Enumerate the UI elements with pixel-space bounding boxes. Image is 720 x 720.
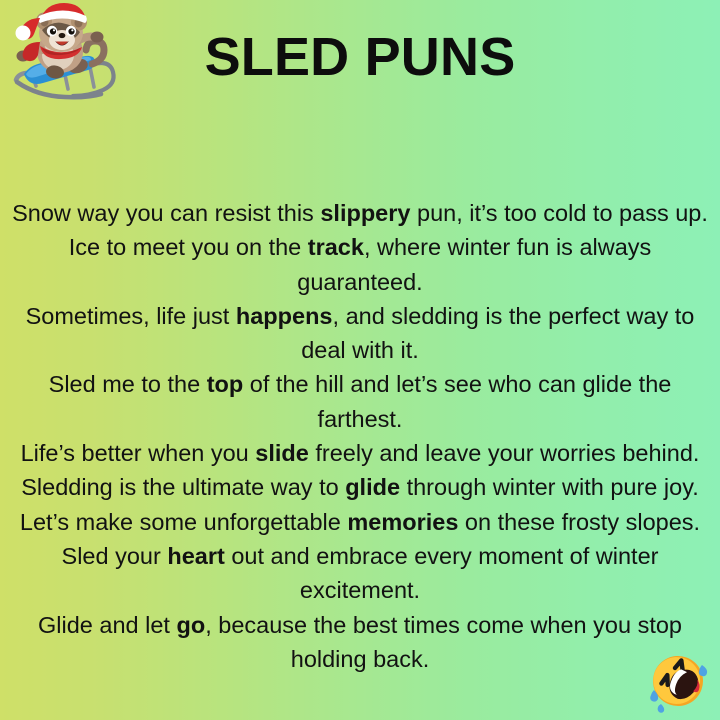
pun-line: Sometimes, life just happens, and sleddi…	[12, 299, 708, 368]
rofl-emoji	[645, 648, 711, 714]
pun-keyword: happens	[236, 303, 333, 329]
pun-keyword: slide	[255, 440, 309, 466]
rolling-on-the-floor-laughing-icon	[645, 648, 711, 714]
pun-text: Let’s make some unforgettable	[20, 509, 347, 535]
pun-text: Ice to meet you on the	[69, 234, 308, 260]
pun-keyword: heart	[167, 543, 224, 569]
pun-text: through winter with pure joy.	[400, 474, 699, 500]
pun-text: out and embrace every moment of winter e…	[225, 543, 659, 603]
pun-text: Snow way you can resist this	[12, 200, 320, 226]
pun-text: Life’s better when you	[21, 440, 256, 466]
page-title: SLED PUNS	[0, 24, 720, 90]
pun-line: Life’s better when you slide freely and …	[12, 436, 708, 470]
pun-keyword: track	[308, 234, 364, 260]
pun-text: on these frosty slopes.	[458, 509, 700, 535]
pun-text: Glide and let	[38, 612, 176, 638]
pun-text: Sled your	[62, 543, 168, 569]
pun-text: Sledding is the ultimate way to	[21, 474, 345, 500]
pun-text: , and sledding is the perfect way to dea…	[301, 303, 694, 363]
pun-text: freely and leave your worries behind.	[309, 440, 700, 466]
pun-text: Sled me to the	[49, 371, 207, 397]
pun-keyword: slippery	[320, 200, 410, 226]
pun-text: of the hill and let’s see who can glide …	[243, 371, 671, 431]
pun-text: Sometimes, life just	[26, 303, 236, 329]
pun-line: Sled me to the top of the hill and let’s…	[12, 367, 708, 436]
pun-keyword: glide	[345, 474, 400, 500]
pun-text: pun, it’s too cold to pass up.	[410, 200, 707, 226]
pun-text: , because the best times come when you s…	[205, 612, 682, 672]
pun-keyword: memories	[347, 509, 458, 535]
pun-line: Glide and let go, because the best times…	[12, 608, 708, 677]
pun-line: Let’s make some unforgettable memories o…	[12, 505, 708, 539]
sled-puns-poster: SLED PUNS Snow way you can resist this s…	[0, 0, 720, 720]
pun-line: Sledding is the ultimate way to glide th…	[12, 470, 708, 504]
pun-line: Sled your heart out and embrace every mo…	[12, 539, 708, 608]
pun-line: Snow way you can resist this slippery pu…	[12, 196, 708, 230]
pun-line: Ice to meet you on the track, where wint…	[12, 230, 708, 299]
puns-text-block: Snow way you can resist this slippery pu…	[12, 196, 708, 676]
pun-keyword: top	[207, 371, 244, 397]
pun-keyword: go	[176, 612, 205, 638]
